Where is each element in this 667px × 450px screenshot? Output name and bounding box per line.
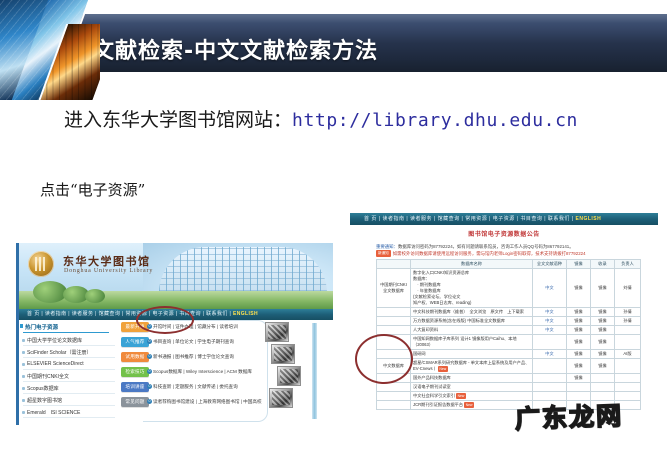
eresource-notice-block: 重要通知：数据库访问密码为87792224，如有问题请联系馆员，咨询工作人员QQ… <box>376 243 640 257</box>
resource-tab-button[interactable]: 培训讲座 <box>121 382 149 392</box>
notice-label: 重要通知： <box>376 244 398 249</box>
resource-row-links[interactable]: 书目查询 | 单位论文 | 学生电子期刊查询 <box>153 339 234 345</box>
library-name-en: Donghua University Library <box>64 268 153 274</box>
banner-sheen <box>0 14 667 23</box>
notice-text: 数据库访问密码为87792224，如有问题请联系馆员，咨询工作人员QQ号码为86… <box>398 244 574 249</box>
eresource-owner-cell <box>615 359 641 374</box>
hot-resource-separator <box>23 369 115 370</box>
eresource-nav-items[interactable]: 首 页 | 读者指南 | 读者服务 | 馆藏查询 | 常用资源 | 电子资源 |… <box>364 215 601 224</box>
notice-new-badge: 新通知 <box>376 250 391 257</box>
resource-row-bullet-icon: 0 <box>147 369 152 374</box>
eresource-lang-cell: 中文 <box>533 326 567 335</box>
university-seal-icon <box>28 251 54 277</box>
decorative-photo-collage <box>0 0 100 100</box>
eresource-name-cell[interactable]: 数字化入口CNKI知识资源总库数据库： · 期刊数据库 · 年鉴数据库(文献检索… <box>411 269 533 308</box>
hot-resources-heading: 热门电子资源 <box>25 323 58 331</box>
eresource-mirror-cell <box>567 383 591 392</box>
resource-thumbnail[interactable] <box>271 344 295 364</box>
eresource-name-cell[interactable]: 超星/CSMAR系列研究数据库 - 单文本库上层系统及用户产品、EV-Cnews… <box>411 359 533 374</box>
eresource-table-row: 中文数据库超星/CSMAR系列研究数据库 - 单文本库上层系统及用户产品、EV-… <box>377 359 641 374</box>
eresource-mirror-cell: 镜像 <box>567 335 591 350</box>
resource-thumbnail[interactable] <box>265 322 289 342</box>
hot-resource-separator <box>23 405 115 406</box>
homepage-nav-item-list[interactable]: 首 页 | 读者指南 | 读者服务 | 馆藏查询 | 常用资源 | 电子资源 |… <box>27 311 233 317</box>
eresource-table-header-cell: 负责人 <box>615 260 641 269</box>
eresource-owner-cell: AI版 <box>615 350 641 359</box>
eresource-table-row: 中文科技期刊数据库（维普） 全文浏览 原文传 上下载索中文镜像镜像孙倩 <box>377 308 641 317</box>
eresource-owner-cell <box>615 374 641 383</box>
eresource-owner-cell <box>615 326 641 335</box>
eresource-table-header-cell <box>377 260 411 269</box>
hot-resource-item[interactable]: 中国期刊CNKI全文 <box>27 373 69 380</box>
eresource-table-row: 万方数据资源系统(含在线版) 中国标准全文数据库中文镜像镜像孙倩 <box>377 317 641 326</box>
library-homepage-screenshot: 东华大学图书馆 Donghua University Library 首 页 |… <box>16 243 333 425</box>
eresource-include-cell: 镜像 <box>591 269 615 308</box>
resource-thumbnail[interactable] <box>269 388 293 408</box>
eresource-lang-cell <box>533 335 567 350</box>
eresource-include-cell: 镜像 <box>591 335 615 350</box>
eresource-lang-cell: 中文 <box>533 269 567 308</box>
eresource-include-cell: 镜像 <box>591 326 615 335</box>
eresource-group-cell <box>377 308 411 317</box>
eresource-name-cell[interactable]: 中文科技期刊数据库（维普） 全文浏览 原文传 上下载索 <box>411 308 533 317</box>
resource-row-links[interactable]: Scopus数据库 | Wiley Interscience | ACM 数据库 <box>153 369 252 375</box>
resource-row-bullet-icon: 0 <box>147 384 152 389</box>
eresource-table-header-cell: 收录 <box>591 260 615 269</box>
eresource-nav-item-list[interactable]: 首 页 | 读者指南 | 读者服务 | 馆藏查询 | 常用资源 | 电子资源 |… <box>364 216 576 222</box>
hot-resource-item[interactable]: ELSEVIER ScienceDirect <box>27 361 84 367</box>
eresource-include-cell: 镜像 <box>591 317 615 326</box>
resource-row-bullet-icon: 0 <box>147 399 152 404</box>
eresource-name-cell[interactable]: 国研网 <box>411 350 533 359</box>
resource-row-links[interactable]: 读者荐购图书馆建设 | 上海教育网络图书馆 | 中国高校 <box>153 399 262 405</box>
annotation-ellipse-e-resources <box>136 306 194 334</box>
hero-tree <box>85 289 105 303</box>
eresource-mirror-cell: 镜像 <box>567 269 591 308</box>
eresource-lang-cell: 中文 <box>533 317 567 326</box>
library-name-cn: 东华大学图书馆 <box>63 253 151 269</box>
eresource-owner-cell: 孙倩 <box>615 317 641 326</box>
eresource-table-row: 中国知网数据库子库系列 设计1 镜像版用户Caihu、本地（20063）镜像镜像 <box>377 335 641 350</box>
notice-text: 如需校外访问数据库请使用远程访问服务，需与馆内老师Login密码取得，技术支持请… <box>393 251 586 256</box>
hot-resource-separator <box>23 357 115 358</box>
eresource-table-header-row: 数据库名称全文文献语种镜像收录负责人 <box>377 260 641 269</box>
annotation-ellipse-chinese-database <box>355 334 413 384</box>
eresource-nav-item-english[interactable]: ENGLISH <box>576 216 602 222</box>
eresource-page-title: 图书馆电子资源数据公告 <box>348 229 660 238</box>
row-new-badge: New <box>464 402 474 408</box>
eresource-table-row: 国外产品科技数据库镜像 <box>377 374 641 383</box>
resource-tab-buttons[interactable]: 最新开通人气推荐试用数据检索技巧培训讲座常见问题 <box>121 322 149 412</box>
eresource-owner-cell: 刘倩 <box>615 269 641 308</box>
hot-resource-separator <box>23 381 115 382</box>
hot-resource-item[interactable]: Scopus数据库 <box>27 385 59 392</box>
eresource-table-header-cell: 全文文献语种 <box>533 260 567 269</box>
resource-tab-button[interactable]: 试用数据 <box>121 352 149 362</box>
homepage-side-divider <box>312 323 317 419</box>
eresource-lang-cell: 中文 <box>533 308 567 317</box>
hero-library-building <box>159 247 327 297</box>
eresource-group-cell: 中国期刊CNKI全文数据库 <box>377 269 411 308</box>
eresource-group-cell <box>377 401 411 410</box>
eresource-table-row: 中国期刊CNKI全文数据库数字化入口CNKI知识资源总库数据库： · 期刊数据库… <box>377 269 641 308</box>
instruction-line-website: 进入东华大学图书馆网站：http://library.dhu.edu.cn <box>64 105 578 132</box>
hot-resources-divider <box>23 332 109 333</box>
row-new-badge: New <box>456 393 466 399</box>
eresource-include-cell: 镜像 <box>591 308 615 317</box>
eresource-name-cell[interactable]: 中国知网数据库子库系列 设计1 镜像版用户Caihu、本地（20063） <box>411 335 533 350</box>
eresource-table-row: 汉语电子期刊试读室 <box>377 383 641 392</box>
resource-tab-button[interactable]: 人气推荐 <box>121 337 149 347</box>
eresource-mirror-cell: 镜像 <box>567 326 591 335</box>
resource-tab-button[interactable]: 检索技巧 <box>121 367 149 377</box>
hot-resource-separator <box>23 393 115 394</box>
eresource-owner-cell <box>615 335 641 350</box>
eresource-group-cell <box>377 317 411 326</box>
eresource-lang-cell: 中文 <box>533 350 567 359</box>
instruction-prefix: 进入东华大学图书馆网站： <box>64 109 292 131</box>
resource-row-bullet-icon: 0 <box>147 339 152 344</box>
homepage-content-panel: 热门电子资源 中国大学学位论文数据库SciFinder Scholar（需注册）… <box>19 320 333 425</box>
eresource-table-row: 国研网中文镜像镜像AI版 <box>377 350 641 359</box>
eresource-owner-cell <box>615 383 641 392</box>
resource-tab-button[interactable]: 常见问题 <box>121 397 149 407</box>
eresource-mirror-cell: 镜像 <box>567 359 591 374</box>
resource-thumbnail[interactable] <box>277 366 301 386</box>
eresource-lang-cell <box>533 383 567 392</box>
site-watermark: 广东龙网 <box>514 396 623 436</box>
resource-row-bullet-icon: 0 <box>147 354 152 359</box>
hero-tree <box>33 281 67 303</box>
eresource-name-cell[interactable]: 汉语电子期刊试读室 <box>411 383 533 392</box>
eresource-name-cell[interactable]: 国外产品科技数据库 <box>411 374 533 383</box>
library-url[interactable]: http://library.dhu.edu.cn <box>292 110 578 131</box>
eresource-include-cell: 镜像 <box>591 350 615 359</box>
eresource-table: 数据库名称全文文献语种镜像收录负责人 中国期刊CNKI全文数据库数字化入口CNK… <box>376 259 641 410</box>
page-title: 文献检索-中文文献检索方法 <box>92 33 378 65</box>
eresource-name-cell[interactable]: 人大复印资料 <box>411 326 533 335</box>
eresource-mirror-cell: 镜像 <box>567 350 591 359</box>
eresource-table-header-cell: 镜像 <box>567 260 591 269</box>
eresource-group-cell <box>377 392 411 401</box>
eresource-owner-cell: 孙倩 <box>615 308 641 317</box>
eresource-table-body: 中国期刊CNKI全文数据库数字化入口CNKI知识资源总库数据库： · 期刊数据库… <box>377 269 641 410</box>
eresource-include-cell <box>591 383 615 392</box>
eresource-table-header-cell: 数据库名称 <box>411 260 533 269</box>
eresource-mirror-cell: 镜像 <box>567 308 591 317</box>
homepage-hero-image: 东华大学图书馆 Donghua University Library <box>19 243 333 309</box>
eresource-mirror-cell: 镜像 <box>567 317 591 326</box>
eresource-mirror-cell: 镜像 <box>567 374 591 383</box>
eresource-name-cell[interactable]: 万方数据资源系统(含在线版) 中国标准全文数据库 <box>411 317 533 326</box>
eresource-nav-bar[interactable]: 首 页 | 读者指南 | 读者服务 | 馆藏查询 | 常用资源 | 电子资源 |… <box>350 213 658 225</box>
hot-resource-item[interactable]: 中国大学学位论文数据库 <box>27 337 82 344</box>
eresource-include-cell <box>591 374 615 383</box>
slide-title-banner: 文献检索-中文文献检索方法 <box>0 14 667 72</box>
row-new-badge: New <box>438 366 448 372</box>
resource-row-links[interactable]: 新书通报 | 图书推荐 | 博士学位论文查询 <box>153 354 234 360</box>
eresource-notice-line: 新通知如需校外访问数据库请使用远程访问服务，需与馆内老师Login密码取得，技术… <box>376 250 640 257</box>
hot-resource-separator <box>23 417 115 418</box>
eresource-table-row: 人大复印资料中文镜像镜像 <box>377 326 641 335</box>
eresource-lang-cell <box>533 374 567 383</box>
hot-resource-item[interactable]: SciFinder Scholar（需注册） <box>27 349 91 356</box>
hot-resource-separator <box>23 345 115 346</box>
hot-resource-item[interactable]: Emerald ISI SCIENCE <box>27 409 80 416</box>
eresource-lang-cell <box>533 359 567 374</box>
homepage-nav-item-english[interactable]: ENGLISH <box>233 311 258 317</box>
instruction-line-click: 点击“电子资源” <box>40 179 145 200</box>
resource-row-links[interactable]: 科技查新 | 定题服务 | 文献传递 | 委托查询 <box>153 384 238 390</box>
eresource-table-screenshot: 首 页 | 读者指南 | 读者服务 | 馆藏查询 | 常用资源 | 电子资源 |… <box>348 213 660 425</box>
eresource-notice-line: 重要通知：数据库访问密码为87792224，如有问题请联系馆员，咨询工作人员QQ… <box>376 243 640 250</box>
eresource-include-cell: 镜像 <box>591 359 615 374</box>
hot-resource-item[interactable]: 超星数字图书馆 <box>27 397 62 404</box>
